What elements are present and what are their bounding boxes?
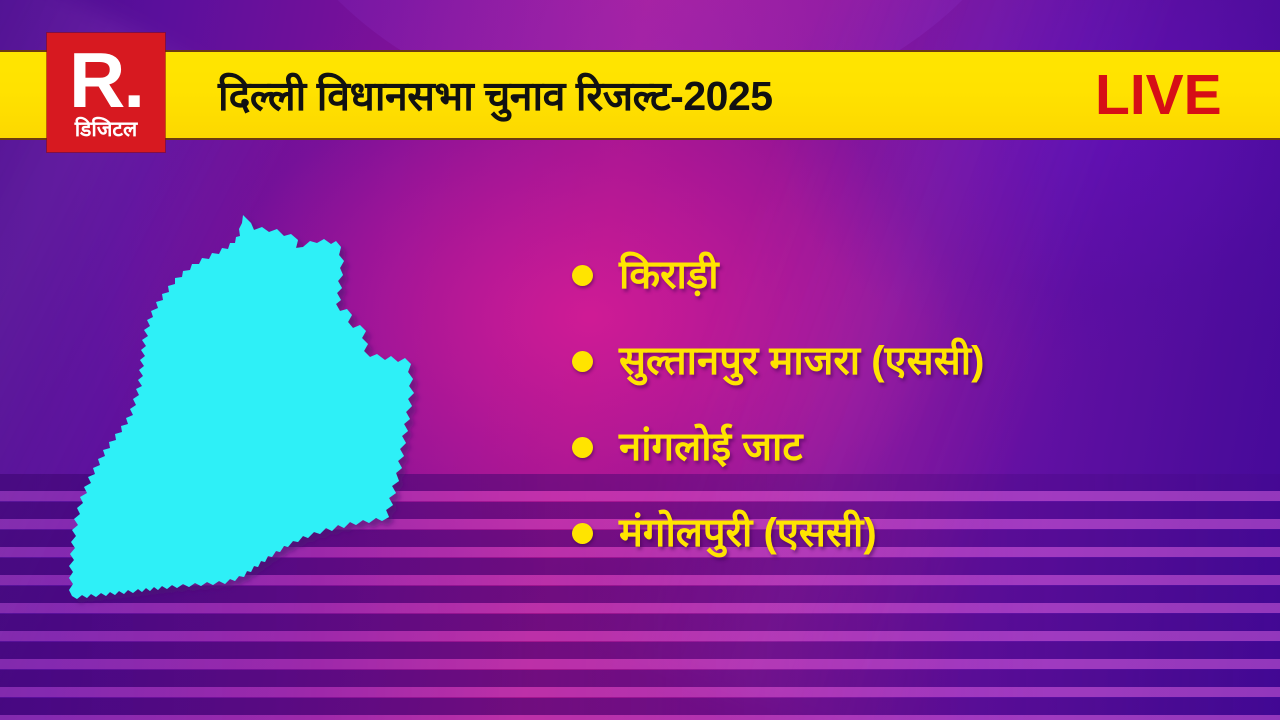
constituency-label: नांगलोई जाट bbox=[619, 424, 803, 470]
bullet-icon bbox=[572, 265, 593, 286]
list-item: सुल्तानपुर माजरा (एससी) bbox=[572, 318, 1262, 404]
list-item: नांगलोई जाट bbox=[572, 404, 1262, 490]
bullet-icon bbox=[572, 351, 593, 372]
constituency-label: मंगोलपुरी (एससी) bbox=[619, 510, 877, 556]
constituency-label: सुल्तानपुर माजरा (एससी) bbox=[619, 338, 984, 384]
graphic-stage: दिल्ली विधानसभा चुनाव रिजल्ट-2025 LIVE R… bbox=[0, 0, 1280, 720]
page-title: दिल्ली विधानसभा चुनाव रिजल्ट-2025 bbox=[218, 50, 773, 140]
list-item: मंगोलपुरी (एससी) bbox=[572, 490, 1262, 576]
delhi-map bbox=[55, 205, 475, 650]
constituency-list: किराड़ी सुल्तानपुर माजरा (एससी) नांगलोई … bbox=[572, 232, 1262, 576]
constituency-label: किराड़ी bbox=[619, 252, 719, 298]
list-item: किराड़ी bbox=[572, 232, 1262, 318]
bullet-icon bbox=[572, 437, 593, 458]
republic-digital-logo[interactable]: R. डिजिटल bbox=[47, 33, 165, 152]
delhi-map-shape bbox=[69, 215, 414, 599]
bullet-icon bbox=[572, 523, 593, 544]
live-badge: LIVE bbox=[1095, 50, 1222, 140]
logo-wordmark: R. bbox=[69, 39, 143, 121]
